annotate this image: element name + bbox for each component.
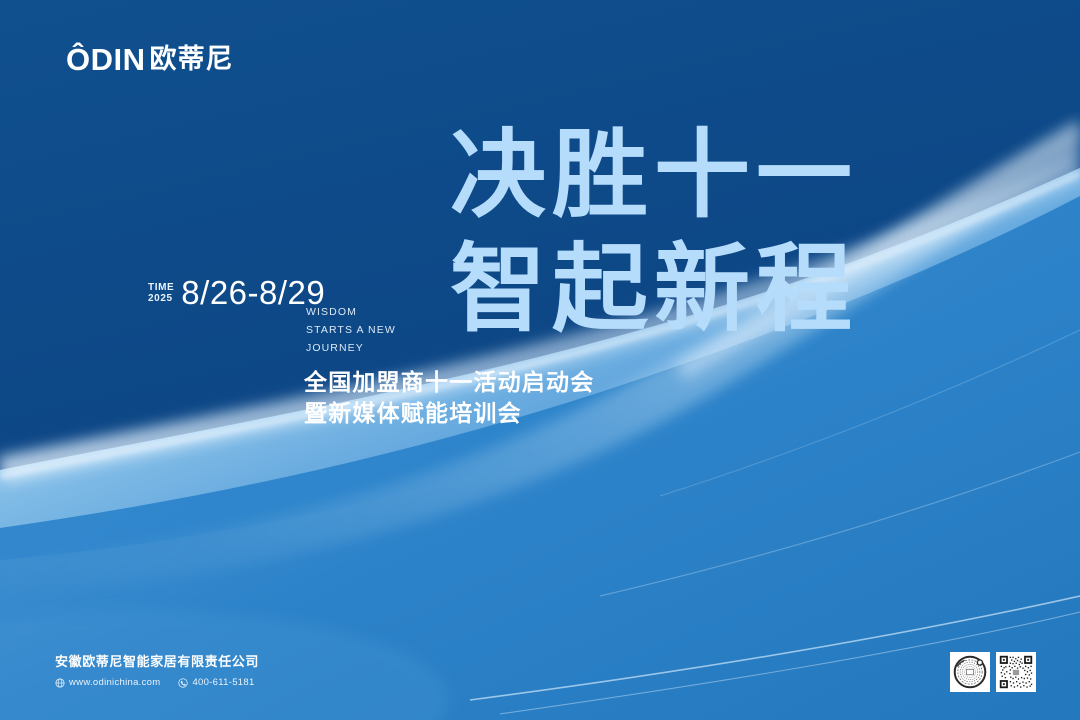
time-label-group: TIME 2025 bbox=[148, 276, 174, 304]
date-range: 8/26-8/29 bbox=[181, 276, 325, 310]
company-name: 安徽欧蒂尼智能家居有限责任公司 bbox=[55, 654, 259, 672]
phone-icon bbox=[178, 678, 188, 688]
tagline-line-2: STARTS A NEW bbox=[306, 321, 396, 339]
brand-logo-chinese: 欧蒂尼 bbox=[150, 46, 234, 74]
subtitle-line-1: 全国加盟商十一活动启动会 bbox=[304, 368, 594, 399]
year-label: 2025 bbox=[148, 293, 174, 304]
website-item: www.odinichina.com bbox=[55, 677, 160, 688]
event-subtitle: 全国加盟商十一活动启动会 暨新媒体赋能培训会 bbox=[304, 368, 594, 430]
contact-row: www.odinichina.com 400-611-5181 bbox=[55, 677, 259, 688]
tagline-line-3: JOURNEY bbox=[306, 339, 396, 357]
wechat-circle-code[interactable] bbox=[950, 652, 990, 692]
tagline-line-1: WISDOM bbox=[306, 303, 396, 321]
english-tagline: WISDOM STARTS A NEW JOURNEY bbox=[306, 303, 396, 357]
brand-logo-latin: ÔDIN bbox=[66, 44, 146, 75]
subtitle-line-2: 暨新媒体赋能培训会 bbox=[304, 399, 594, 430]
time-label: TIME bbox=[148, 282, 174, 293]
event-poster: ÔDIN 欧蒂尼 决胜十一 智起新程 TIME 2025 8/26-8/29 W… bbox=[0, 0, 1080, 720]
brand-logo: ÔDIN 欧蒂尼 bbox=[66, 44, 234, 75]
headline-line-2: 智起新程 bbox=[450, 232, 858, 345]
event-date: TIME 2025 8/26-8/29 bbox=[148, 276, 325, 310]
background-wave-art bbox=[0, 0, 1080, 720]
phone-item: 400-611-5181 bbox=[178, 677, 254, 688]
phone-text: 400-611-5181 bbox=[192, 677, 254, 688]
qr-code[interactable] bbox=[996, 652, 1036, 692]
headline-line-1: 决胜十一 bbox=[450, 118, 858, 231]
globe-icon bbox=[55, 678, 65, 688]
footer-block: 安徽欧蒂尼智能家居有限责任公司 www.odinichina.com bbox=[55, 654, 259, 688]
code-group bbox=[950, 652, 1036, 692]
website-text: www.odinichina.com bbox=[69, 677, 160, 688]
headline-calligraphy: 决胜十一 智起新程 bbox=[440, 110, 910, 350]
